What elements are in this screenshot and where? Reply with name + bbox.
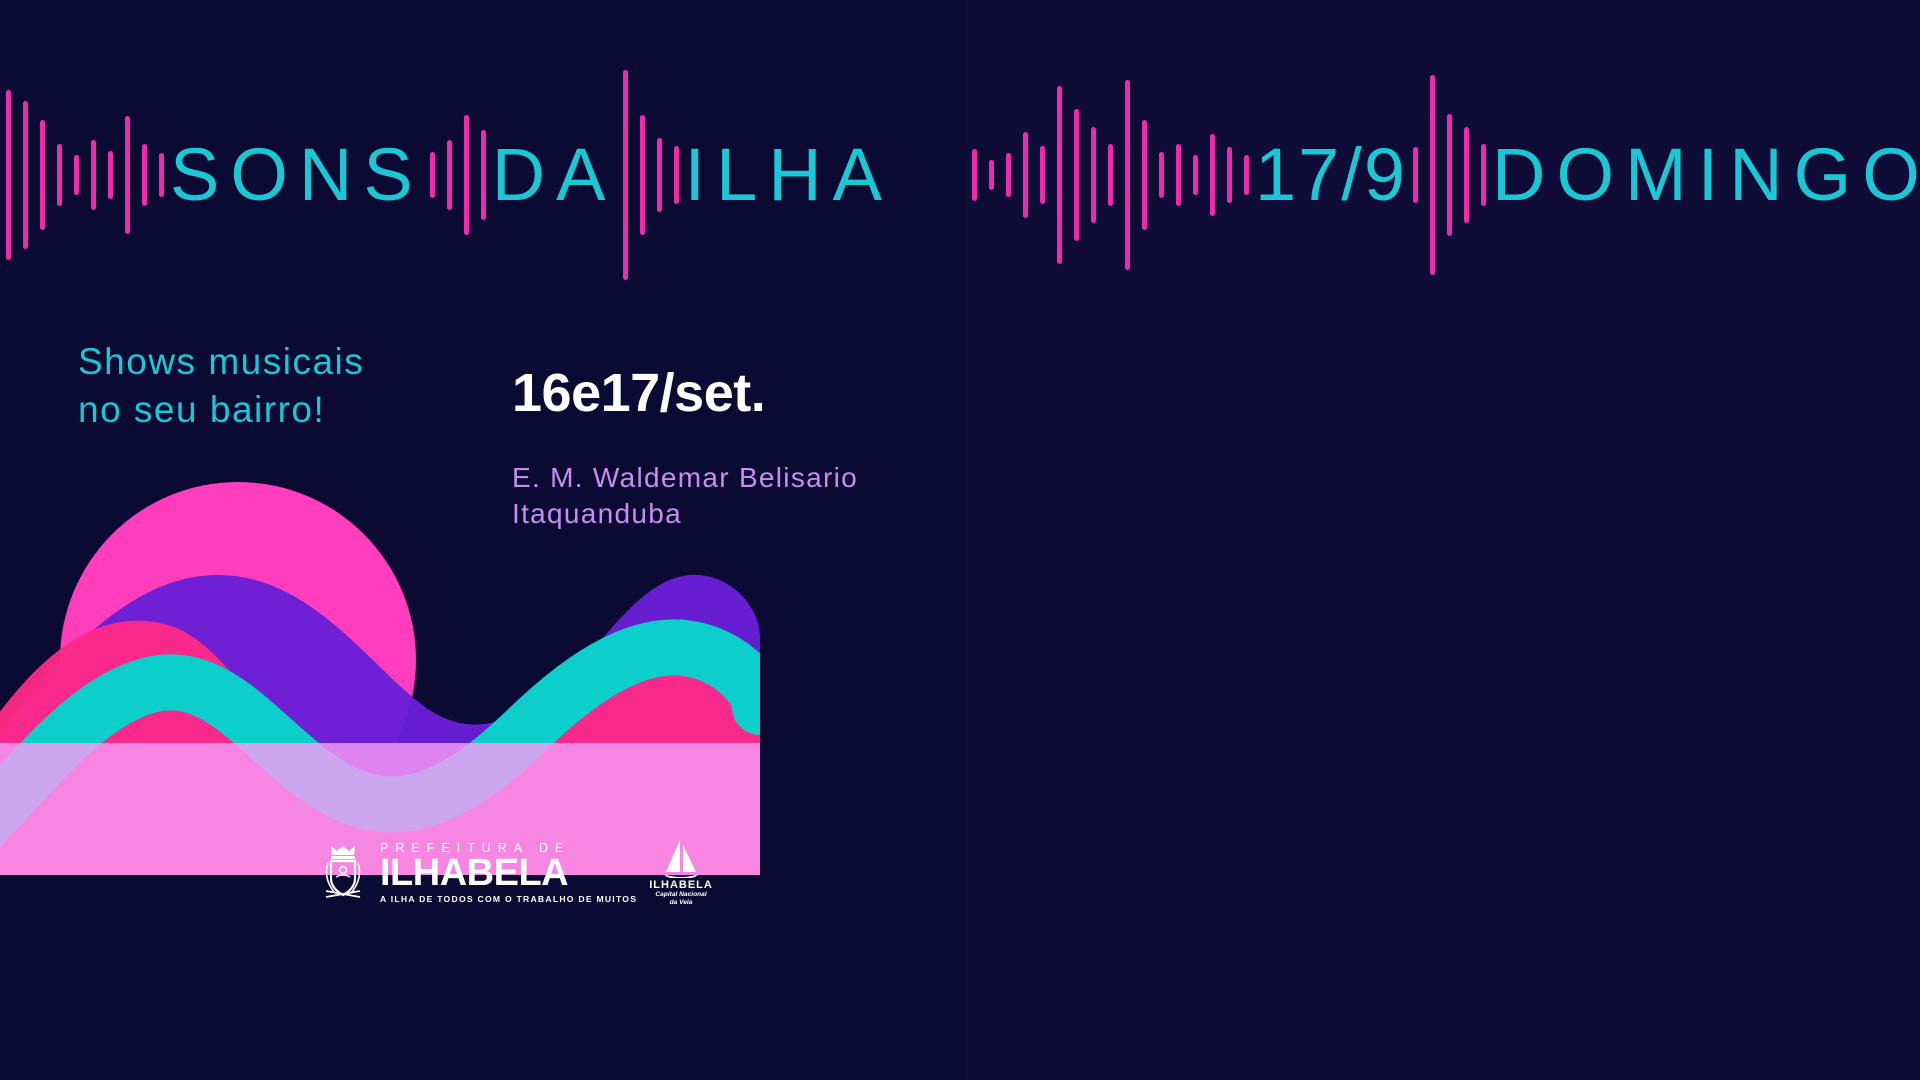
waveform-bar [1142,120,1147,230]
sail-sub-label: Capital Nacional da Vela [655,891,706,907]
left-panel: SONS DA ILHA Shows musicais no seu bairr… [0,0,966,1080]
waveform-bar [1464,127,1469,223]
waveform-bar [1125,80,1130,270]
title-word-sons: SONS [170,138,424,212]
waveform-bar [657,138,662,212]
waveform-bar [57,144,62,206]
waveform-bar [91,140,96,210]
event-dates: 16e17/set. [512,362,765,424]
waveform-bar [1040,146,1045,204]
title-word-domingo: DOMINGO [1492,138,1920,212]
sailboat-mark: ILHABELA Capital Nacional da Vela [649,838,713,907]
waveform-bar [1091,127,1096,223]
waveform-bar [1193,155,1198,195]
waveform-bar [74,155,79,195]
waveform-bar [1244,155,1249,195]
waveform-bar [1006,153,1011,197]
waveform-bar [1413,147,1418,203]
coat-of-arms-icon [320,843,366,903]
waveform-bar [464,115,469,235]
waveform-bars-left-b [424,60,492,290]
waveform-bar [1430,75,1435,275]
logo-slogan: A ILHA DE TODOS COM O TRABALHO DE MUITOS [380,894,637,904]
waveform-bar [1159,152,1164,198]
waveform-bar [1108,144,1113,206]
sound-wave-graphic-left [0,455,760,875]
waveform-bar [481,130,486,220]
title-word-da: DA [492,138,617,212]
poster-canvas: SONS DA ILHA Shows musicais no seu bairr… [0,0,1920,1080]
waveform-bar [1176,144,1181,206]
waveform-bar [40,120,45,230]
waveform-bar [1481,144,1486,206]
title-word-ilha: ILHA [685,138,894,212]
waveform-bar [159,153,164,197]
waveform-bar [989,160,994,190]
right-panel: 17/9 DOMINGO 19h Otávio & Ezequiel 21h B… [966,0,1920,1080]
waveform-bar [1210,134,1215,216]
right-header: 17/9 DOMINGO [966,60,1920,290]
waveform-bar [108,151,113,199]
waveform-bar [640,115,645,235]
waveform-bar [1227,147,1232,203]
waveform-bars-right-b [1407,60,1492,290]
waveform-bar [430,152,435,198]
tagline-text: Shows musicais no seu bairro! [78,338,364,434]
sailboat-icon [661,838,701,878]
sail-name-label: ILHABELA [649,879,713,891]
waveform-bar [1447,114,1452,236]
waveform-bar [1074,109,1079,241]
title-word-date: 17/9 [1255,138,1407,212]
waveform-bar [972,149,977,201]
waveform-bar [6,90,11,260]
waveform-bar [125,116,130,234]
waveform-bar [1023,132,1028,218]
waveform-bar [674,146,679,204]
waveform-bars-left-c [617,60,685,290]
waveform-bar [23,101,28,249]
waveform-bar [447,140,452,210]
waveform-bars-right-a [966,60,1255,290]
waveform-bar [623,70,628,280]
left-header: SONS DA ILHA [0,60,966,290]
logo-city-label: ILHABELA [380,856,637,891]
waveform-bars-left-a [0,60,170,290]
prefeitura-logo-left: PREFEITURA DE ILHABELA A ILHA DE TODOS C… [320,838,713,907]
waveform-bar [142,144,147,206]
waveform-bar [1057,86,1062,264]
